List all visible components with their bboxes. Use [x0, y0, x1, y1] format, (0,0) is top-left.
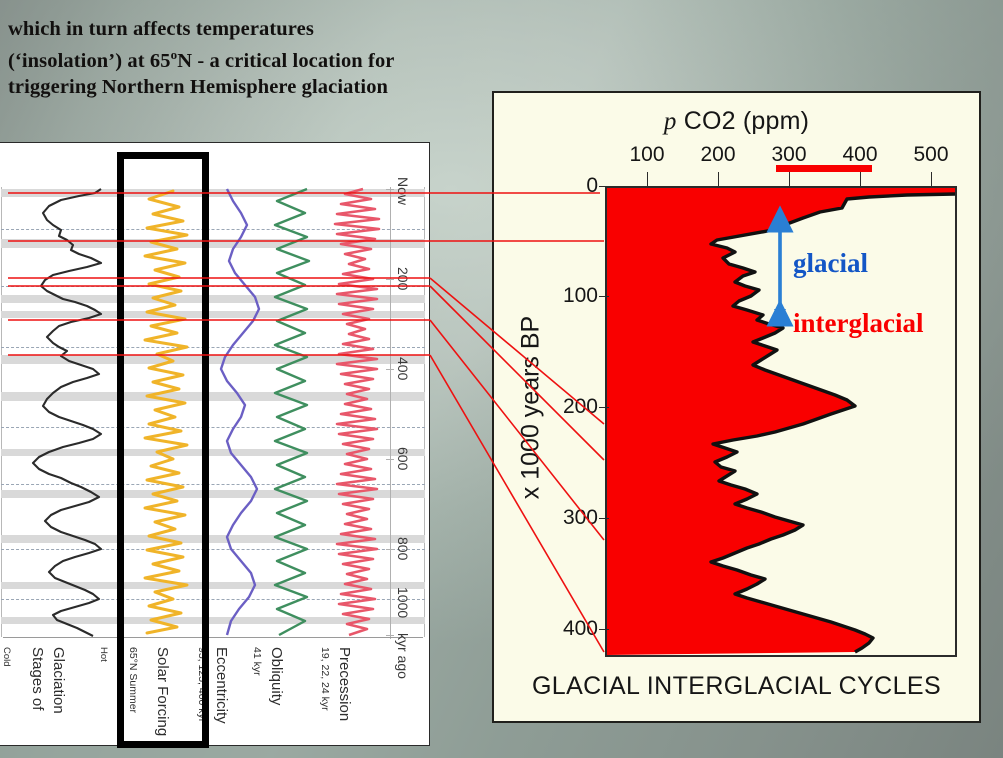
ytick-label-200: 200 — [540, 395, 598, 419]
axis-tick — [386, 549, 394, 550]
co2-title-italic-p: p — [664, 108, 677, 135]
xtick-label-100: 100 — [619, 143, 675, 167]
ytick-mark — [599, 296, 609, 297]
ytick-mark — [599, 518, 609, 519]
left-axis-rail — [390, 187, 391, 639]
ytick-label-400: 400 — [540, 617, 598, 641]
axis-tick — [386, 279, 394, 280]
left-axis-label-800: 800 — [395, 537, 411, 560]
left-axis-label-200: 200 — [395, 267, 411, 290]
column-label-stages-sub: Glaciation — [50, 647, 67, 714]
column-label-obliquity-sub: 41 kyr — [251, 647, 263, 676]
left-axis-label-1000: 1000 — [395, 587, 411, 618]
left-chart-baseline — [3, 637, 423, 638]
column-label-stages-main: Stages of — [29, 647, 46, 710]
co2-y-axis-title: x 1000 years BP — [517, 293, 546, 523]
eccentricity-curve — [211, 187, 269, 639]
column-label-eccentricity-main: Eccentricity — [213, 647, 230, 724]
left-axis-unit: kyr ago — [395, 633, 411, 679]
slide-heading: which in turn affects temperatures (‘ins… — [8, 16, 508, 100]
xtick-mark — [789, 172, 790, 186]
left-axis-label-400: 400 — [395, 357, 411, 380]
co2-panel-caption: GLACIAL INTERGLACIAL CYCLES — [494, 672, 979, 701]
heading-line-1: which in turn affects temperatures — [8, 16, 508, 42]
obliquity-curve — [263, 187, 319, 639]
axis-tick — [386, 635, 394, 636]
heading-line-2b: N - a critical location for — [177, 50, 394, 72]
heading-line-2a: (‘insolation’) at 65 — [8, 50, 171, 72]
ytick-label-0: 0 — [540, 174, 598, 198]
milankovitch-plot-area — [1, 187, 425, 637]
ytick-mark — [599, 186, 609, 187]
xtick-mark — [647, 172, 648, 186]
co2-title-rest: CO2 (ppm) — [677, 107, 810, 135]
heading-line-3: triggering Northern Hemisphere glaciatio… — [8, 74, 508, 100]
xtick-label-300: 300 — [761, 143, 817, 167]
ytick-mark — [599, 407, 609, 408]
scale-label-hot: Hot — [98, 647, 109, 662]
ytick-mark — [599, 629, 609, 630]
ytick-label-300: 300 — [540, 506, 598, 530]
left-axis-label-600: 600 — [395, 447, 411, 470]
column-label-precession-sub: 19, 22, 24 kyr — [319, 647, 331, 711]
column-label-obliquity-main: Obliquity — [268, 647, 285, 705]
co2-axis-title: p CO2 (ppm) — [494, 107, 979, 136]
left-axis-label-now: Now — [395, 177, 411, 205]
stages-of-glaciation-curve — [9, 187, 109, 639]
axis-tick — [386, 189, 394, 190]
modern-co2-range-bar — [776, 165, 872, 172]
ytick-label-100: 100 — [540, 284, 598, 308]
xtick-mark — [718, 172, 719, 186]
xtick-mark — [931, 172, 932, 186]
solar-forcing-highlight-box[interactable] — [117, 152, 209, 748]
co2-panel: p CO2 (ppm) 100 200 300 400 500 0 100 20… — [492, 91, 981, 723]
axis-tick — [386, 369, 394, 370]
heading-line-2: (‘insolation’) at 65oN - a critical loca… — [8, 42, 508, 74]
precession-curve — [327, 187, 389, 639]
axis-tick — [386, 459, 394, 460]
annotation-interglacial: interglacial — [793, 308, 923, 339]
xtick-label-500: 500 — [903, 143, 959, 167]
milankovitch-panel: Now 200 400 600 800 1000 kyr ago Cold St… — [0, 142, 430, 746]
xtick-label-400: 400 — [832, 143, 888, 167]
column-label-precession-main: Precession — [336, 647, 353, 721]
annotation-glacial: glacial — [793, 248, 868, 279]
scale-label-cold: Cold — [1, 647, 12, 667]
xtick-label-200: 200 — [690, 143, 746, 167]
xtick-mark — [860, 172, 861, 186]
